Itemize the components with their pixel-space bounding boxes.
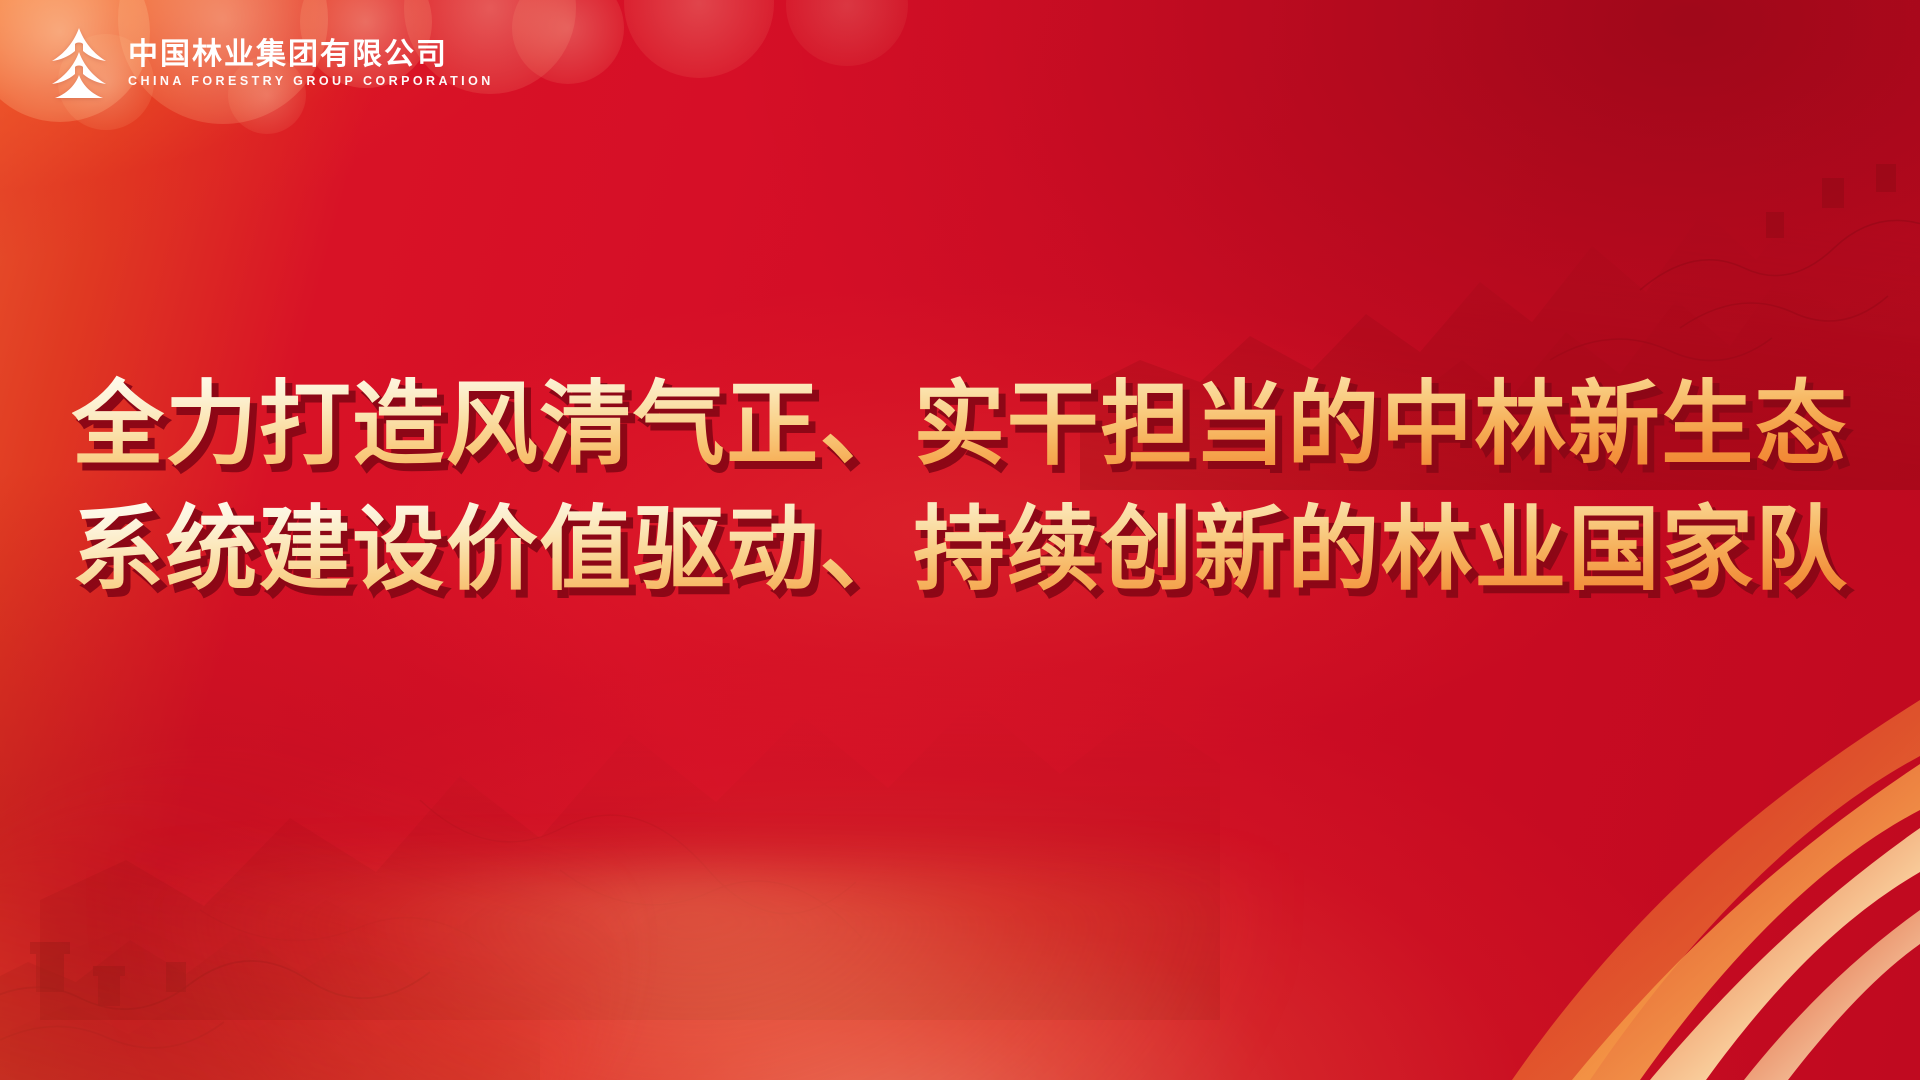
forestry-pagoda-tree-logo-icon <box>44 26 114 98</box>
headline-line-2: 系统建设价值驱动、持续创新的林业国家队 系统建设价值驱动、持续创新的林业国家队 <box>72 497 1849 604</box>
background-bottom-drape <box>120 870 1270 1080</box>
bokeh-circle-5 <box>512 0 624 84</box>
bokeh-circle-6 <box>624 0 774 78</box>
banner-poster: 中国林业集团有限公司 CHINA FORESTRY GROUP CORPORAT… <box>0 0 1920 1080</box>
brand-name-en: CHINA FORESTRY GROUP CORPORATION <box>128 75 494 88</box>
headline-block: 全力打造风清气正、实干担当的中林新生态 全力打造风清气正、实干担当的中林新生态 … <box>0 372 1920 603</box>
headline-line-1-text: 全力打造风清气正、实干担当的中林新生态 <box>72 371 1849 478</box>
golden-ribbon-swoosh-icon <box>1120 660 1920 1080</box>
background-bottom-left-drape <box>0 693 672 1080</box>
brand-text-block: 中国林业集团有限公司 CHINA FORESTRY GROUP CORPORAT… <box>128 36 494 88</box>
headline-line-2-text: 系统建设价值驱动、持续创新的林业国家队 <box>72 496 1849 603</box>
bokeh-circle-7 <box>786 0 908 66</box>
brand-name-cn: 中国林业集团有限公司 <box>128 40 494 70</box>
great-wall-tower-watermark-icon <box>0 790 540 1080</box>
mountain-range-watermark-icon <box>40 550 1220 1020</box>
headline-line-1: 全力打造风清气正、实干担当的中林新生态 全力打造风清气正、实干担当的中林新生态 <box>72 372 1849 479</box>
brand-lockup: 中国林业集团有限公司 CHINA FORESTRY GROUP CORPORAT… <box>44 26 494 98</box>
